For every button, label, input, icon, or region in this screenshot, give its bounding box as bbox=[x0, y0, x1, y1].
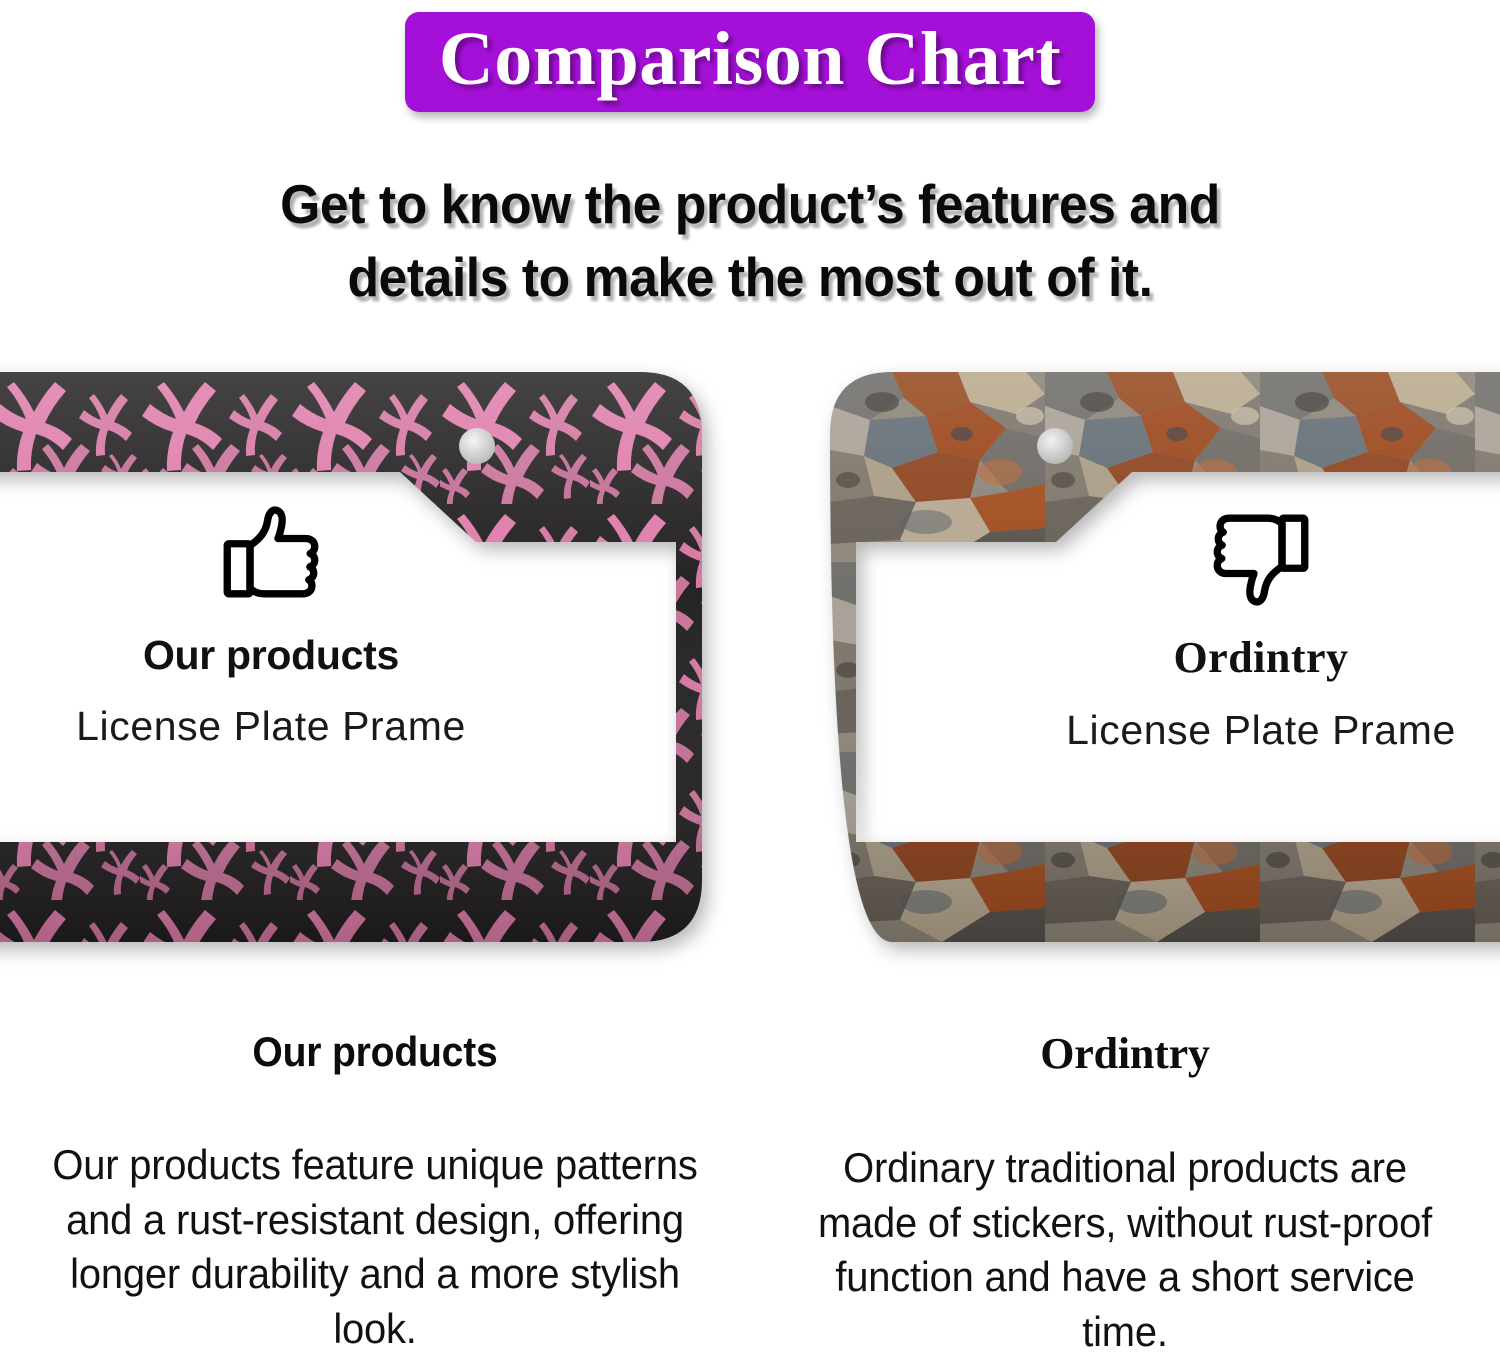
bottom-column-right: Ordintry Ordinary traditional products a… bbox=[750, 1028, 1500, 1359]
screw-hole-icon bbox=[1037, 428, 1073, 464]
product-frame-right bbox=[830, 372, 1500, 942]
bottom-title-right: Ordintry bbox=[750, 1028, 1500, 1079]
bottom-title-left: Our products bbox=[26, 1028, 724, 1076]
bottom-body-left: Our products feature unique patterns and… bbox=[19, 1138, 732, 1356]
bottom-body-right: Ordinary traditional products are made o… bbox=[769, 1141, 1482, 1359]
license-plate-frame-rust bbox=[830, 372, 1500, 942]
license-plate-frame-pink bbox=[0, 372, 702, 942]
bottom-description-row: Our products Our products feature unique… bbox=[0, 1028, 1500, 1359]
bottom-column-left: Our products Our products feature unique… bbox=[0, 1028, 750, 1359]
screw-hole-icon bbox=[459, 428, 495, 464]
product-frame-left bbox=[0, 372, 702, 942]
